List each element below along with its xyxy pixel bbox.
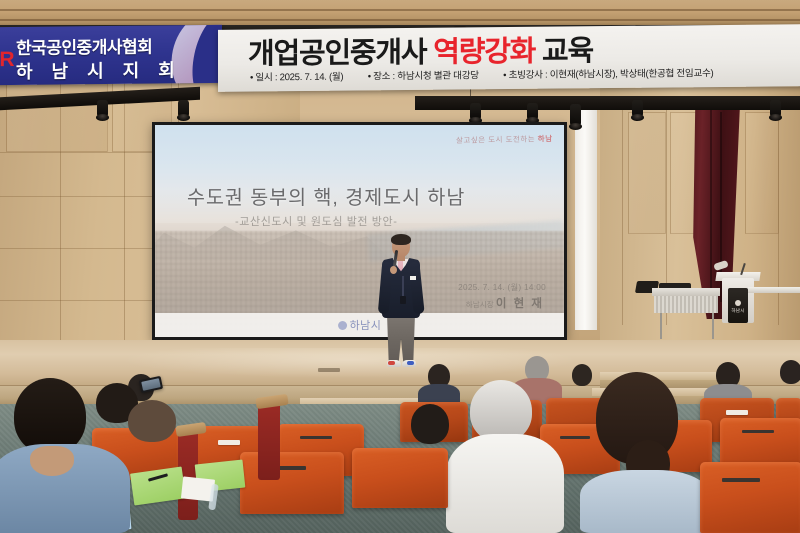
stage-light-icon [470, 103, 481, 120]
banner-title-part1: 개업공인중개사 [248, 37, 426, 71]
audience-head [128, 400, 176, 442]
banner-title-part2: 교육 [542, 35, 593, 67]
audience-head [470, 380, 532, 442]
stage-light-icon [97, 100, 108, 117]
speaker-shoe-right [402, 360, 416, 367]
photo-scene: R 한국공인중개사협회 하 남 시 지 회 개업공인중개사 역량강화 교육 • … [0, 0, 800, 533]
seat-tray [722, 478, 760, 482]
stage-light-icon [570, 104, 581, 126]
stage-floor-marking [318, 368, 340, 372]
white-pillar [575, 100, 597, 330]
association-banner: R 한국공인중개사협회 하 남 시 지 회 [0, 25, 222, 85]
side-table-body [654, 296, 718, 313]
audience-head [14, 378, 86, 454]
speaker-hand [390, 266, 397, 274]
association-banner-line1: 한국공인중개사협회 [16, 33, 152, 59]
banner-title-highlight: 역량강화 [433, 36, 535, 69]
seat-number-tag [218, 440, 240, 445]
podium-logo-mark-icon [735, 300, 741, 306]
side-table-top [652, 288, 720, 296]
auditorium-seat[interactable] [700, 462, 800, 533]
slide-datetime: 2025. 7. 14. (월) 14:00 [458, 281, 546, 293]
slide-presenter-name: 이 현 재 [496, 298, 544, 310]
audience-neck [30, 446, 74, 476]
auditorium-seat[interactable] [352, 448, 448, 508]
speaker-lanyard [402, 276, 404, 298]
podium-front-panel: 하남시 [728, 288, 748, 323]
slide-presenter-role: 하남시장 [466, 300, 494, 309]
wall-panel-groove [622, 105, 623, 325]
seat-side-panel [258, 402, 280, 480]
stage-speaker [378, 236, 424, 368]
ceiling-seam [0, 19, 800, 21]
audience-head [780, 360, 800, 384]
podium-logo: 하남시 [728, 300, 748, 314]
slide-slogan: 살고싶은 도시 도전하는 하남 [456, 133, 553, 146]
main-banner: 개업공인중개사 역량강화 교육 • 일시 : 2025. 7. 14. (월) … [218, 24, 800, 92]
city-logo-mark-icon [338, 321, 347, 330]
speaker-pocket-square [410, 276, 416, 280]
ceiling-seam [0, 9, 800, 11]
stage-light-icon [178, 100, 189, 117]
slide-slogan-accent: 하남 [538, 134, 553, 143]
slide-slogan-plain: 살고싶은 도시 도전하는 [456, 134, 538, 144]
stage-light-icon [770, 100, 781, 117]
stage-rail [748, 287, 800, 293]
projection-screen-frame: 살고싶은 도시 도전하는 하남 수도권 동부의 핵, 경제도시 하남 -교산신도… [152, 122, 567, 340]
wall-panel [628, 112, 666, 234]
seat-tray [742, 430, 774, 433]
seat-number-tag [726, 410, 748, 415]
slide-title: 수도권 동부의 핵, 경제도시 하남 [187, 181, 465, 210]
stage-light-reflection [120, 348, 580, 378]
auditorium-seat[interactable] [240, 452, 344, 514]
seat-tray [560, 436, 590, 439]
association-banner-line2: 하 남 시 지 회 [16, 56, 182, 84]
wall-panel [745, 112, 779, 234]
speaker-hair [391, 234, 411, 245]
table-leg [660, 313, 662, 339]
speaker-mic-pack [400, 296, 406, 304]
slide-city-logo: 하남시 [338, 317, 382, 333]
slide-subtitle: -교산신도시 및 원도심 발전 방안- [235, 213, 398, 229]
banner-detail-date: • 일시 : 2025. 7. 14. (월) [250, 72, 343, 84]
banner-detail-venue: • 장소 : 하남시청 별관 대강당 [368, 70, 479, 82]
stage-light-icon [527, 103, 538, 120]
speaker-shoe-left [387, 360, 401, 367]
speaker-trousers [387, 314, 415, 362]
audience-head [411, 404, 449, 444]
projection-screen: 살고싶은 도시 도전하는 하남 수도권 동부의 핵, 경제도시 하남 -교산신도… [155, 125, 564, 337]
audience-head [572, 364, 592, 386]
stage-light-icon [632, 100, 643, 117]
slide-logo-text: 하남시 [350, 320, 382, 332]
slide-presenter: 하남시장 이 현 재 [466, 295, 544, 311]
seat-tray [300, 436, 332, 439]
table-leg [712, 313, 714, 339]
podium-logo-text: 하남시 [731, 308, 744, 313]
banner-detail-speakers: • 초빙강사 : 이현재(하남시장), 박상태(한공협 전임교수) [503, 68, 713, 81]
audience-shoulders [446, 434, 564, 533]
audience-shoulders [580, 470, 710, 533]
